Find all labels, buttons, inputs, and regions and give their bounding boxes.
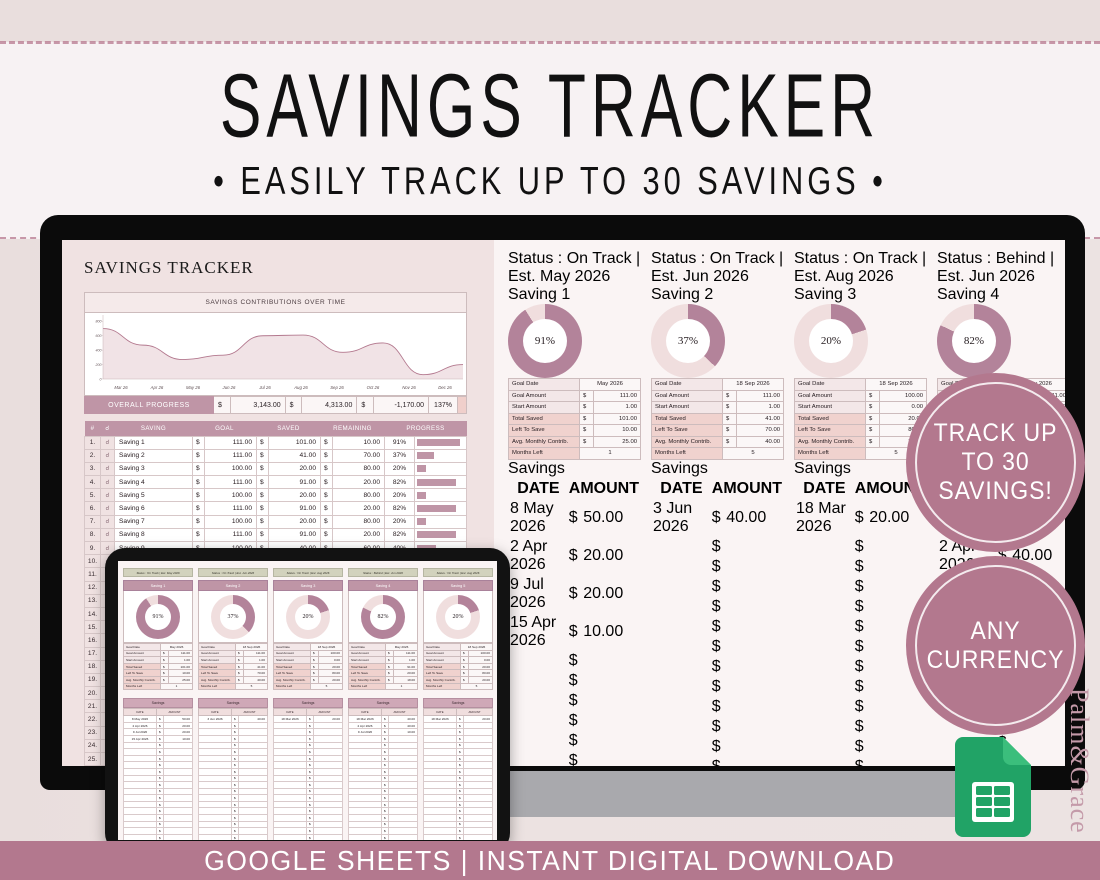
savings-entry-row[interactable]: $ bbox=[199, 768, 268, 775]
avg-monthly-value: 25.00 bbox=[169, 676, 193, 683]
entry-date bbox=[274, 782, 307, 789]
entry-amount bbox=[583, 692, 639, 710]
detail-label: Total Saved bbox=[652, 413, 723, 425]
detail-row-goal-date: Goal Date18 Sep 2026 bbox=[274, 644, 343, 651]
savings-entry-row[interactable]: $ bbox=[796, 718, 925, 736]
entry-amount bbox=[389, 775, 418, 782]
savings-entry-row[interactable]: 18 Mar 2026$20.00 bbox=[424, 716, 493, 723]
row-index: 2. bbox=[85, 449, 101, 462]
savings-entry-row[interactable]: $ bbox=[124, 788, 193, 795]
remaining-value: 10.00 bbox=[333, 436, 385, 449]
savings-entry-row[interactable]: $ bbox=[653, 558, 782, 576]
entries-col-amount: AMOUNT bbox=[382, 709, 418, 716]
savings-entry-row[interactable]: 2 Apr 2026$20.00 bbox=[510, 538, 639, 574]
savings-entry-row[interactable]: $ bbox=[510, 692, 639, 710]
table-row[interactable]: 7.☌Saving 7$100.00$20.00$80.0020% bbox=[85, 515, 467, 528]
savings-entry-row[interactable]: $ bbox=[424, 801, 493, 808]
entry-date bbox=[653, 538, 710, 556]
card-title: Saving 4 bbox=[348, 580, 418, 591]
savings-entry-row[interactable]: $ bbox=[510, 752, 639, 767]
savings-entry-row[interactable]: $ bbox=[349, 795, 418, 802]
entry-amount bbox=[726, 758, 782, 767]
detail-row-total-saved: Total Saved$41.00 bbox=[652, 413, 784, 425]
overall-saved-value: 4,313.00 bbox=[302, 396, 357, 414]
entry-currency: $ bbox=[157, 762, 164, 769]
savings-entry-row[interactable]: $ bbox=[124, 801, 193, 808]
entry-amount bbox=[389, 749, 418, 756]
savings-entry-row[interactable]: $ bbox=[653, 618, 782, 636]
entry-amount: 20.00 bbox=[314, 716, 343, 723]
entries-col-amount: AMOUNT bbox=[569, 480, 639, 498]
savings-entry-row[interactable]: $ bbox=[124, 775, 193, 782]
savings-entry-row[interactable]: $ bbox=[796, 698, 925, 716]
entry-currency: $ bbox=[307, 742, 314, 749]
saved-currency: $ bbox=[257, 476, 269, 489]
savings-entry-row[interactable]: $ bbox=[424, 782, 493, 789]
entry-currency: $ bbox=[157, 821, 164, 828]
badge-any-currency: ANY CURRENCY bbox=[908, 558, 1083, 733]
savings-entry-row[interactable]: $ bbox=[424, 821, 493, 828]
chart-x-axis: Mar 26Apr 26May 26Jun 26Jul 26Aug 26Sep … bbox=[85, 385, 466, 395]
card-title: Saving 3 bbox=[794, 286, 927, 304]
entry-date bbox=[199, 735, 232, 742]
entry-currency: $ bbox=[232, 729, 239, 736]
entry-date bbox=[653, 618, 710, 636]
entry-date bbox=[199, 788, 232, 795]
savings-entry-row[interactable]: $ bbox=[124, 755, 193, 762]
savings-entry-row[interactable]: $ bbox=[274, 775, 343, 782]
detail-row-total-saved: Total Saved$101.00 bbox=[124, 663, 193, 670]
savings-entry-row[interactable]: $ bbox=[349, 742, 418, 749]
saving-card-5[interactable]: Status : On Track | Est. Aug 2026Saving … bbox=[423, 568, 493, 840]
entry-currency: $ bbox=[232, 808, 239, 815]
left-to-save-value: 10.00 bbox=[594, 425, 641, 437]
savings-entry-row[interactable]: $ bbox=[653, 538, 782, 556]
col-link-icon: ☌ bbox=[101, 421, 115, 436]
entry-date bbox=[349, 762, 382, 769]
entry-amount bbox=[314, 735, 343, 742]
savings-entry-row[interactable]: 15 Apr 2026$10.00 bbox=[510, 614, 639, 650]
table-row[interactable]: 2.☌Saving 2$111.00$41.00$70.0037% bbox=[85, 449, 467, 462]
entry-currency: $ bbox=[855, 738, 867, 756]
savings-entry-row[interactable]: $ bbox=[653, 678, 782, 696]
entry-amount bbox=[164, 828, 193, 835]
entry-amount bbox=[314, 762, 343, 769]
savings-entry-row[interactable]: $ bbox=[796, 538, 925, 556]
total-saved-value: 41.00 bbox=[244, 663, 268, 670]
overall-goal-value: 3,143.00 bbox=[231, 396, 286, 414]
savings-entry-row[interactable]: $ bbox=[124, 782, 193, 789]
savings-entry-row[interactable]: $ bbox=[199, 742, 268, 749]
savings-entry-row[interactable]: $ bbox=[510, 712, 639, 730]
overall-progress-label: OVERALL PROGRESS bbox=[84, 396, 214, 414]
savings-entry-row[interactable]: $ bbox=[653, 638, 782, 656]
savings-entry-row[interactable]: $ bbox=[274, 821, 343, 828]
avg-monthly-value: 18.00 bbox=[394, 676, 418, 683]
total-saved-value: 101.00 bbox=[169, 663, 193, 670]
link-icon[interactable]: ☌ bbox=[101, 436, 115, 449]
chart-x-tick: Dec 26 bbox=[427, 385, 463, 395]
savings-entry-row[interactable]: $ bbox=[349, 788, 418, 795]
savings-entry-row[interactable]: $ bbox=[510, 732, 639, 750]
entry-currency: $ bbox=[855, 718, 867, 736]
goal-date-value: 18 Sep 2026 bbox=[311, 644, 343, 651]
row-index: 13. bbox=[85, 594, 101, 607]
entry-amount bbox=[464, 729, 493, 736]
savings-entry-row[interactable]: $ bbox=[349, 828, 418, 835]
link-icon[interactable]: ☌ bbox=[101, 449, 115, 462]
link-icon[interactable]: ☌ bbox=[101, 489, 115, 502]
avg-monthly-value: 20.00 bbox=[469, 676, 493, 683]
savings-entry-row[interactable]: $ bbox=[124, 808, 193, 815]
savings-entry-row[interactable]: 3 Jun 2026$40.00 bbox=[653, 500, 782, 536]
savings-entry-row[interactable]: $ bbox=[274, 742, 343, 749]
detail-row-total-saved: Total Saved$41.00 bbox=[199, 663, 268, 670]
savings-entry-row[interactable]: $ bbox=[349, 735, 418, 742]
overall-percent: 137% bbox=[429, 396, 458, 414]
table-row[interactable]: 4.☌Saving 4$111.00$91.00$20.0082% bbox=[85, 476, 467, 489]
savings-entry-row[interactable]: $ bbox=[424, 762, 493, 769]
link-icon[interactable]: ☌ bbox=[101, 502, 115, 515]
savings-entry-row[interactable]: 2 Apr 2026$40.00 bbox=[349, 722, 418, 729]
detail-row-left-to-save: Left To Save$10.00 bbox=[124, 670, 193, 677]
goal-value: 111.00 bbox=[205, 476, 257, 489]
table-row[interactable]: 5.☌Saving 5$100.00$20.00$80.0020% bbox=[85, 489, 467, 502]
entry-amount bbox=[389, 808, 418, 815]
savings-entry-row[interactable]: 9 Jul 2026$10.00 bbox=[349, 729, 418, 736]
start-amount-value: 1.00 bbox=[244, 657, 268, 664]
row-index: 25. bbox=[85, 753, 101, 766]
entry-currency: $ bbox=[157, 788, 164, 795]
entry-currency: $ bbox=[307, 768, 314, 775]
link-icon[interactable]: ☌ bbox=[101, 515, 115, 528]
entry-amount bbox=[239, 834, 268, 840]
entry-amount bbox=[314, 808, 343, 815]
savings-entry-row[interactable]: $ bbox=[199, 821, 268, 828]
entry-currency: $ bbox=[307, 716, 314, 723]
entry-date: 18 Mar 2026 bbox=[424, 716, 457, 723]
savings-entry-row[interactable]: $ bbox=[796, 658, 925, 676]
savings-entry-row[interactable]: $ bbox=[349, 834, 418, 840]
savings-entry-row[interactable]: $ bbox=[424, 722, 493, 729]
entry-currency: $ bbox=[382, 722, 389, 729]
table-row[interactable]: 6.☌Saving 6$111.00$91.00$20.0082% bbox=[85, 502, 467, 515]
detail-row-goal-date: Goal Date18 Sep 2026 bbox=[424, 644, 493, 651]
savings-entry-row[interactable]: $ bbox=[349, 749, 418, 756]
detail-row-start-amount: Start Amount$0.00 bbox=[274, 657, 343, 664]
savings-entries-header: Savings bbox=[123, 698, 193, 708]
entry-amount: 40.00 bbox=[726, 500, 782, 536]
savings-entry-row[interactable]: $ bbox=[199, 762, 268, 769]
entry-currency: $ bbox=[307, 735, 314, 742]
savings-entry-row[interactable]: 8 May 2026$50.00 bbox=[124, 716, 193, 723]
detail-currency: $ bbox=[866, 390, 880, 402]
entry-date bbox=[124, 749, 157, 756]
savings-entry-row[interactable]: $ bbox=[199, 788, 268, 795]
entry-date bbox=[424, 729, 457, 736]
savings-entry-row[interactable]: $ bbox=[349, 821, 418, 828]
entry-amount bbox=[726, 598, 782, 616]
entry-amount bbox=[389, 735, 418, 742]
saving-card-1[interactable]: Status : On Track | Est. May 2026Saving … bbox=[123, 568, 193, 840]
savings-entry-row[interactable]: $ bbox=[424, 828, 493, 835]
savings-entry-row[interactable]: $ bbox=[199, 755, 268, 762]
savings-entry-row[interactable]: $ bbox=[424, 729, 493, 736]
entry-amount bbox=[464, 801, 493, 808]
savings-entry-row[interactable]: $ bbox=[199, 782, 268, 789]
savings-entry-row[interactable]: $ bbox=[349, 815, 418, 822]
savings-entry-row[interactable]: $ bbox=[796, 578, 925, 596]
savings-entry-row[interactable]: $ bbox=[274, 722, 343, 729]
entry-currency: $ bbox=[382, 775, 389, 782]
detail-label: Goal Date bbox=[274, 644, 311, 651]
savings-entry-row[interactable]: $ bbox=[274, 755, 343, 762]
savings-entry-row[interactable]: $ bbox=[199, 722, 268, 729]
savings-entry-row[interactable]: 18 Mar 2026$40.00 bbox=[349, 716, 418, 723]
saving-card-2[interactable]: Status : On Track | Est. Jun 2026Saving … bbox=[651, 250, 784, 766]
start-amount-value: 0.00 bbox=[319, 657, 343, 664]
savings-entry-row[interactable]: $ bbox=[653, 598, 782, 616]
savings-entry-row[interactable]: 3 Jun 2026$40.00 bbox=[199, 716, 268, 723]
link-icon[interactable]: ☌ bbox=[101, 462, 115, 475]
savings-entry-row[interactable]: $ bbox=[424, 808, 493, 815]
entry-currency: $ bbox=[569, 712, 581, 730]
entry-currency: $ bbox=[157, 828, 164, 835]
row-index: 4. bbox=[85, 476, 101, 489]
savings-entry-row[interactable]: $ bbox=[124, 821, 193, 828]
remaining-currency: $ bbox=[321, 462, 333, 475]
entry-currency: $ bbox=[157, 815, 164, 822]
savings-entry-row[interactable]: $ bbox=[274, 768, 343, 775]
savings-entry-row[interactable]: $ bbox=[424, 815, 493, 822]
savings-entry-row[interactable]: $ bbox=[274, 735, 343, 742]
detail-label: Avg. Monthly Contrib. bbox=[652, 436, 723, 448]
entry-date bbox=[510, 712, 567, 730]
detail-currency: $ bbox=[461, 670, 469, 677]
saving-name: Saving 2 bbox=[115, 449, 193, 462]
savings-entry-row[interactable]: $ bbox=[424, 755, 493, 762]
savings-entry-row[interactable]: $ bbox=[274, 788, 343, 795]
entry-date bbox=[653, 598, 710, 616]
entry-date bbox=[653, 758, 710, 767]
chart-x-tick: Jul 26 bbox=[247, 385, 283, 395]
savings-entry-row[interactable]: $ bbox=[199, 815, 268, 822]
savings-entry-row[interactable]: $ bbox=[124, 834, 193, 840]
savings-entry-row[interactable]: 8 May 2026$50.00 bbox=[510, 500, 639, 536]
saving-card-4[interactable]: Status : Behind | Est. Jun 2026Saving 48… bbox=[348, 568, 418, 840]
entry-currency: $ bbox=[232, 762, 239, 769]
savings-entry-row[interactable]: $ bbox=[274, 795, 343, 802]
savings-entry-row[interactable]: $ bbox=[653, 658, 782, 676]
saving-card-3[interactable]: Status : On Track | Est. Aug 2026Saving … bbox=[273, 568, 343, 840]
savings-entry-row[interactable]: $ bbox=[274, 729, 343, 736]
savings-entry-row[interactable]: $ bbox=[274, 815, 343, 822]
savings-entry-row[interactable]: $ bbox=[124, 749, 193, 756]
avg-monthly-value: 40.00 bbox=[244, 676, 268, 683]
savings-entry-row[interactable]: $ bbox=[424, 795, 493, 802]
savings-entry-row[interactable]: $ bbox=[796, 638, 925, 656]
card-status-bar: Status : On Track | Est. May 2026 bbox=[123, 568, 193, 577]
entry-amount bbox=[389, 768, 418, 775]
savings-entry-row[interactable]: $ bbox=[124, 762, 193, 769]
savings-entry-row[interactable]: $ bbox=[424, 742, 493, 749]
savings-entry-row[interactable]: $ bbox=[653, 578, 782, 596]
savings-entry-row[interactable]: $ bbox=[653, 758, 782, 767]
link-icon[interactable]: ☌ bbox=[101, 476, 115, 489]
saving-card-3[interactable]: Status : On Track | Est. Aug 2026Saving … bbox=[794, 250, 927, 766]
entry-currency: $ bbox=[382, 742, 389, 749]
savings-entry-row[interactable]: $ bbox=[510, 652, 639, 670]
savings-entry-row[interactable]: $ bbox=[274, 828, 343, 835]
savings-entries-table: DATEAMOUNT8 May 2026$50.002 Apr 2026$20.… bbox=[123, 708, 193, 840]
savings-entry-row[interactable]: $ bbox=[199, 735, 268, 742]
savings-entry-row[interactable]: $ bbox=[124, 768, 193, 775]
entries-header-row: DATEAMOUNT bbox=[653, 480, 782, 498]
table-row[interactable]: 3.☌Saving 3$100.00$20.00$80.0020% bbox=[85, 462, 467, 475]
savings-entry-row[interactable]: $ bbox=[274, 801, 343, 808]
savings-entry-row[interactable]: $ bbox=[796, 758, 925, 767]
savings-entry-row[interactable]: $ bbox=[274, 834, 343, 840]
entry-amount bbox=[869, 738, 925, 756]
savings-entry-row[interactable]: $ bbox=[274, 749, 343, 756]
savings-entry-row[interactable]: $ bbox=[349, 775, 418, 782]
savings-entry-row[interactable]: $ bbox=[653, 738, 782, 756]
savings-entry-row[interactable]: $ bbox=[424, 788, 493, 795]
entry-amount bbox=[583, 732, 639, 750]
detail-currency: $ bbox=[311, 676, 319, 683]
saved-value: 91.00 bbox=[269, 476, 321, 489]
chart-y-tick: 600 bbox=[96, 334, 102, 338]
entry-currency: $ bbox=[382, 808, 389, 815]
savings-entry-row[interactable]: $ bbox=[199, 828, 268, 835]
savings-entry-row[interactable]: 2 Apr 2026$20.00 bbox=[124, 722, 193, 729]
detail-row-months-left: Months Left5 bbox=[274, 683, 343, 690]
savings-entry-row[interactable]: $ bbox=[349, 762, 418, 769]
donut-percent-label: 37% bbox=[211, 595, 255, 639]
savings-entry-row[interactable]: $ bbox=[199, 749, 268, 756]
entry-amount bbox=[869, 698, 925, 716]
entry-date bbox=[199, 821, 232, 828]
savings-entry-row[interactable]: $ bbox=[424, 775, 493, 782]
savings-entry-row[interactable]: $ bbox=[199, 775, 268, 782]
savings-entry-row[interactable]: $ bbox=[510, 672, 639, 690]
saving-card-1[interactable]: Status : On Track | Est. May 2026Saving … bbox=[508, 250, 641, 766]
savings-entry-row[interactable]: $ bbox=[349, 768, 418, 775]
savings-entry-row[interactable]: $ bbox=[124, 828, 193, 835]
savings-entry-row[interactable]: $ bbox=[199, 729, 268, 736]
entry-date bbox=[349, 782, 382, 789]
savings-entry-row[interactable]: 9 Jul 2026$20.00 bbox=[510, 576, 639, 612]
savings-entry-row[interactable]: $ bbox=[124, 795, 193, 802]
entry-currency: $ bbox=[307, 749, 314, 756]
months-left-value: 1 bbox=[161, 683, 193, 690]
saved-currency: $ bbox=[257, 528, 269, 541]
savings-entries-table: DATEAMOUNT8 May 2026$50.002 Apr 2026$20.… bbox=[508, 478, 641, 767]
detail-currency: $ bbox=[386, 663, 394, 670]
savings-entry-row[interactable]: $ bbox=[796, 558, 925, 576]
savings-entry-row[interactable]: $ bbox=[274, 808, 343, 815]
entry-amount bbox=[314, 801, 343, 808]
entry-amount: 40.00 bbox=[389, 722, 418, 729]
savings-entry-row[interactable]: $ bbox=[199, 795, 268, 802]
savings-entry-row[interactable]: $ bbox=[796, 738, 925, 756]
savings-entry-row[interactable]: $ bbox=[199, 808, 268, 815]
savings-entry-row[interactable]: 9 Jul 2026$20.00 bbox=[124, 729, 193, 736]
entry-amount bbox=[239, 729, 268, 736]
savings-entry-row[interactable]: $ bbox=[424, 768, 493, 775]
entry-amount bbox=[726, 638, 782, 656]
savings-entry-row[interactable]: $ bbox=[349, 808, 418, 815]
entry-currency: $ bbox=[232, 735, 239, 742]
entry-currency: $ bbox=[232, 815, 239, 822]
avg-monthly-value: 40.00 bbox=[737, 436, 784, 448]
savings-entry-row[interactable]: $ bbox=[124, 815, 193, 822]
savings-entry-row[interactable]: $ bbox=[349, 782, 418, 789]
saving-card-2[interactable]: Status : On Track | Est. Jun 2026Saving … bbox=[198, 568, 268, 840]
entry-date: 15 Apr 2026 bbox=[510, 614, 567, 650]
savings-entry-row[interactable]: $ bbox=[349, 801, 418, 808]
savings-entry-row[interactable]: $ bbox=[653, 698, 782, 716]
detail-row-start-amount: Start Amount$1.00 bbox=[349, 657, 418, 664]
entry-date bbox=[424, 749, 457, 756]
table-row[interactable]: 8.☌Saving 8$111.00$91.00$20.0082% bbox=[85, 528, 467, 541]
savings-entry-row[interactable]: $ bbox=[349, 755, 418, 762]
detail-currency: $ bbox=[311, 663, 319, 670]
savings-entry-row[interactable]: $ bbox=[274, 782, 343, 789]
remaining-currency: $ bbox=[321, 449, 333, 462]
savings-entry-row[interactable]: $ bbox=[796, 598, 925, 616]
entry-currency: $ bbox=[382, 729, 389, 736]
entry-amount: 40.00 bbox=[389, 716, 418, 723]
entry-amount bbox=[389, 742, 418, 749]
savings-entry-row[interactable]: $ bbox=[796, 678, 925, 696]
detail-label: Left To Save bbox=[652, 425, 723, 437]
entry-currency: $ bbox=[457, 815, 464, 822]
chart-x-tick: May 26 bbox=[175, 385, 211, 395]
entries-col-date: DATE bbox=[349, 709, 382, 716]
entry-amount bbox=[726, 698, 782, 716]
entry-date bbox=[349, 742, 382, 749]
saving-name: Saving 6 bbox=[115, 502, 193, 515]
savings-entry-row[interactable]: $ bbox=[796, 618, 925, 636]
savings-entry-row[interactable]: 18 Mar 2026$20.00 bbox=[274, 716, 343, 723]
table-row[interactable]: 1.☌Saving 1$111.00$101.00$10.0091% bbox=[85, 436, 467, 449]
savings-entry-row[interactable]: $ bbox=[199, 801, 268, 808]
chart-x-tick: Jun 26 bbox=[211, 385, 247, 395]
goal-value: 111.00 bbox=[205, 528, 257, 541]
savings-entry-row[interactable]: $ bbox=[424, 834, 493, 840]
savings-entry-row[interactable]: 15 Apr 2026$10.00 bbox=[124, 735, 193, 742]
entry-currency: $ bbox=[457, 834, 464, 840]
start-amount-value: 0.00 bbox=[469, 657, 493, 664]
col-remaining: REMAINING bbox=[321, 421, 385, 436]
entry-currency: $ bbox=[855, 598, 867, 616]
detail-currency: $ bbox=[461, 650, 469, 657]
link-icon[interactable]: ☌ bbox=[101, 528, 115, 541]
savings-entry-row[interactable]: 18 Mar 2026$20.00 bbox=[796, 500, 925, 536]
savings-entry-row[interactable]: $ bbox=[424, 749, 493, 756]
savings-entry-row[interactable]: $ bbox=[653, 718, 782, 736]
entry-date: 2 Apr 2026 bbox=[510, 538, 567, 574]
savings-entry-row[interactable]: $ bbox=[199, 834, 268, 840]
savings-entry-row[interactable]: $ bbox=[274, 762, 343, 769]
detail-row-goal-date: Goal DateMay 2026 bbox=[509, 379, 641, 391]
entry-currency: $ bbox=[157, 729, 164, 736]
savings-entry-row[interactable]: $ bbox=[124, 742, 193, 749]
entries-header-row: DATEAMOUNT bbox=[510, 480, 639, 498]
savings-entry-row[interactable]: $ bbox=[424, 735, 493, 742]
progress-bar bbox=[415, 502, 467, 515]
